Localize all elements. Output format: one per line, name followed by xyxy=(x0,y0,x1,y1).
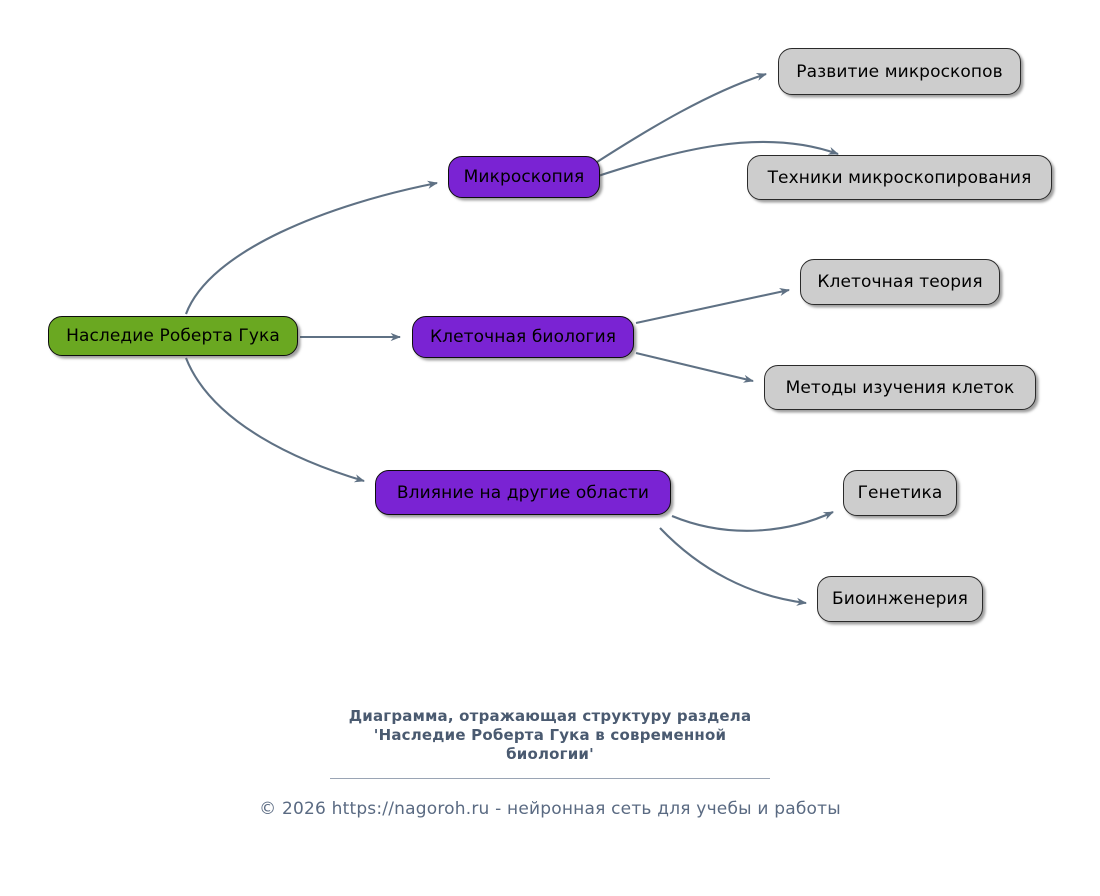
mindmap-canvas: Наследие Роберта Гука Микроскопия Развит… xyxy=(0,0,1100,896)
node-genetics[interactable]: Генетика xyxy=(843,470,957,516)
node-root-label: Наследие Роберта Гука xyxy=(66,326,280,346)
edge-cell-biology-to-cell-theory xyxy=(636,290,789,323)
caption-title-line-3: биологии' xyxy=(0,745,1100,764)
node-genetics-label: Генетика xyxy=(858,483,943,503)
caption-divider xyxy=(330,778,770,779)
edge-impact-to-genetics xyxy=(672,512,833,531)
node-microscope-development[interactable]: Развитие микроскопов xyxy=(778,48,1021,95)
node-microscopy[interactable]: Микроскопия xyxy=(448,156,600,198)
node-microscopy-techniques[interactable]: Техники микроскопирования xyxy=(747,155,1052,200)
caption-title-line-2: 'Наследие Роберта Гука в современной xyxy=(0,726,1100,745)
caption-title-line-1: Диаграмма, отражающая структуру раздела xyxy=(0,707,1100,726)
node-impact-other-fields[interactable]: Влияние на другие области xyxy=(375,470,671,515)
edge-cell-biology-to-cell-study-methods xyxy=(636,353,753,381)
node-bioengineering-label: Биоинженерия xyxy=(832,589,968,609)
node-cell-study-methods-label: Методы изучения клеток xyxy=(786,378,1015,398)
node-bioengineering[interactable]: Биоинженерия xyxy=(817,576,983,622)
edge-root-to-impact xyxy=(186,358,364,481)
node-impact-other-fields-label: Влияние на другие области xyxy=(397,483,649,503)
caption-title: Диаграмма, отражающая структуру раздела … xyxy=(0,707,1100,764)
edge-microscopy-to-microscope-development xyxy=(597,74,766,162)
caption-footer: © 2026 https://nagoroh.ru - нейронная се… xyxy=(0,799,1100,819)
node-microscopy-techniques-label: Техники микроскопирования xyxy=(768,168,1032,188)
edge-root-to-microscopy xyxy=(186,183,437,314)
node-cell-theory[interactable]: Клеточная теория xyxy=(800,259,1000,305)
node-microscopy-label: Микроскопия xyxy=(464,167,585,187)
node-cell-biology-label: Клеточная биология xyxy=(430,327,616,347)
node-root[interactable]: Наследие Роберта Гука xyxy=(48,316,298,356)
node-cell-theory-label: Клеточная теория xyxy=(817,272,982,292)
edge-impact-to-bioengineering xyxy=(660,528,806,603)
node-cell-biology[interactable]: Клеточная биология xyxy=(412,316,634,358)
caption-block: Диаграмма, отражающая структуру раздела … xyxy=(0,707,1100,819)
node-microscope-development-label: Развитие микроскопов xyxy=(796,62,1002,82)
node-cell-study-methods[interactable]: Методы изучения клеток xyxy=(764,365,1036,410)
